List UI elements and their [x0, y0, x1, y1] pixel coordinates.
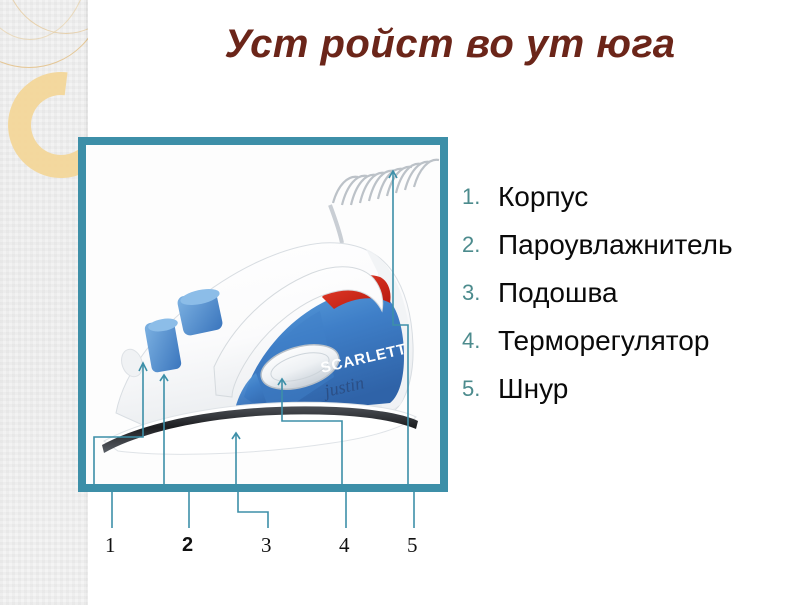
list-item-label: Шнур: [498, 372, 807, 406]
figure-frame: SCARLETT justin: [78, 137, 448, 492]
parts-list: 1. Корпус 2. Пароувлажнитель 3. Подошва …: [462, 180, 807, 420]
callout-number-1: 1: [105, 533, 116, 558]
page-title: Уст ройст во ут юга: [110, 22, 790, 67]
list-item-number: 4.: [462, 324, 498, 358]
decorative-side-strip: [0, 0, 88, 605]
list-item: 5. Шнур: [462, 372, 807, 406]
slide-canvas: Уст ройст во ут юга: [0, 0, 807, 605]
list-item-label: Корпус: [498, 180, 807, 214]
callout-number-5: 5: [407, 533, 418, 558]
list-item: 2. Пароувлажнитель: [462, 228, 807, 262]
callout-number-4: 4: [339, 533, 350, 558]
list-item-number: 2.: [462, 228, 498, 262]
list-item-label: Терморегулятор: [498, 324, 807, 358]
figure-image: SCARLETT justin: [86, 145, 440, 484]
iron-illustration: SCARLETT justin: [86, 145, 440, 484]
list-item-number: 3.: [462, 276, 498, 310]
list-item: 1. Корпус: [462, 180, 807, 214]
list-item-label: Подошва: [498, 276, 807, 310]
list-item: 4. Терморегулятор: [462, 324, 807, 358]
list-item-number: 5.: [462, 372, 498, 406]
cord-entry: [330, 205, 342, 243]
decorative-ring-icon: [0, 51, 88, 200]
callout-number-3: 3: [261, 533, 272, 558]
steam-knob-large: [176, 286, 223, 337]
list-item: 3. Подошва: [462, 276, 807, 310]
list-item-number: 1.: [462, 180, 498, 214]
callout-number-2: 2: [182, 534, 193, 557]
power-cord-icon: [333, 160, 439, 205]
list-item-label: Пароувлажнитель: [498, 228, 807, 262]
